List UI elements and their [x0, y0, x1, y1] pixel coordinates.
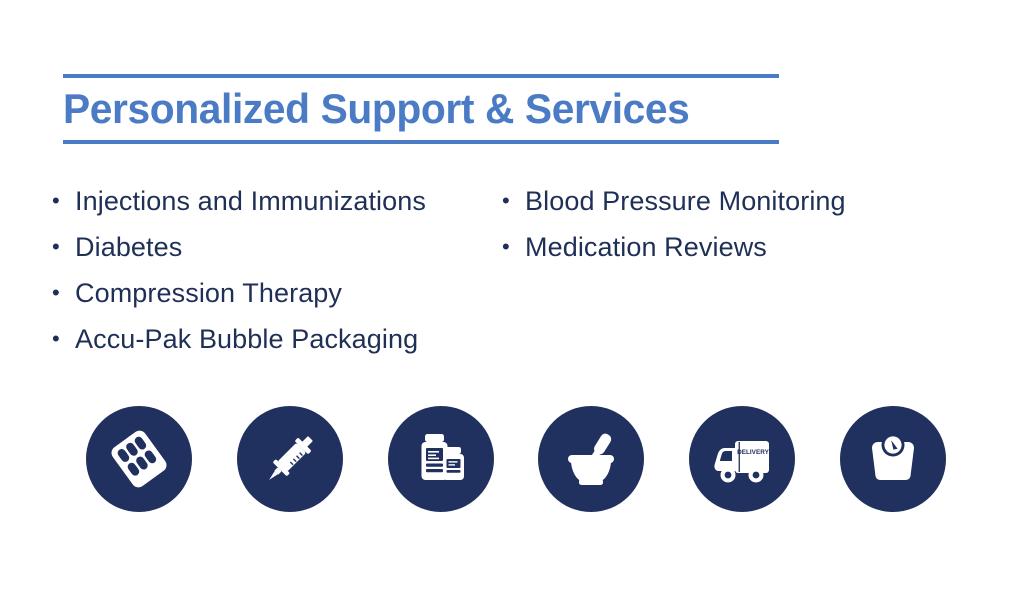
title-block: Personalized Support & Services	[63, 74, 779, 144]
bullet-dot-icon: •	[52, 316, 75, 362]
list-item-label: Accu-Pak Bubble Packaging	[75, 316, 418, 362]
icon-circle-blister-pack	[86, 406, 192, 512]
list-item-label: Blood Pressure Monitoring	[525, 178, 846, 224]
bullet-dot-icon: •	[502, 178, 525, 224]
bullet-dot-icon: •	[52, 178, 75, 224]
van-side-text: DELIVERY	[737, 449, 769, 456]
bullet-dot-icon: •	[52, 270, 75, 316]
page-title: Personalized Support & Services	[63, 78, 758, 140]
weight-scale-icon	[860, 426, 926, 492]
list-item: • Compression Therapy	[52, 270, 492, 316]
icon-circle-pill-bottles	[388, 406, 494, 512]
list-item: • Medication Reviews	[502, 224, 1025, 270]
blister-pack-icon	[106, 426, 172, 492]
pill-bottles-icon	[408, 426, 474, 492]
services-columns: • Injections and Immunizations • Diabete…	[0, 178, 1025, 362]
icon-circle-syringe	[237, 406, 343, 512]
delivery-van-icon: DELIVERY	[708, 425, 776, 493]
list-item: • Blood Pressure Monitoring	[502, 178, 1025, 224]
list-item: • Accu-Pak Bubble Packaging	[52, 316, 492, 362]
mortar-pestle-icon	[558, 426, 624, 492]
bullet-list-left: • Injections and Immunizations • Diabete…	[52, 178, 492, 362]
title-rule-bottom	[63, 140, 779, 144]
bullet-dot-icon: •	[52, 224, 75, 270]
list-item-label: Diabetes	[75, 224, 182, 270]
list-item-label: Compression Therapy	[75, 270, 342, 316]
bullet-dot-icon: •	[502, 224, 525, 270]
slide-canvas: Personalized Support & Services • Inject…	[0, 0, 1025, 590]
services-right-column: • Blood Pressure Monitoring • Medication…	[492, 178, 1025, 362]
icon-row: DELIVERY	[86, 406, 946, 512]
icon-circle-weight-scale	[840, 406, 946, 512]
icon-circle-mortar-pestle	[538, 406, 644, 512]
list-item-label: Injections and Immunizations	[75, 178, 426, 224]
list-item-label: Medication Reviews	[525, 224, 767, 270]
list-item: • Injections and Immunizations	[52, 178, 492, 224]
services-left-column: • Injections and Immunizations • Diabete…	[0, 178, 492, 362]
bullet-list-right: • Blood Pressure Monitoring • Medication…	[502, 178, 1025, 270]
list-item: • Diabetes	[52, 224, 492, 270]
syringe-icon	[257, 426, 323, 492]
icon-circle-delivery-van: DELIVERY	[689, 406, 795, 512]
